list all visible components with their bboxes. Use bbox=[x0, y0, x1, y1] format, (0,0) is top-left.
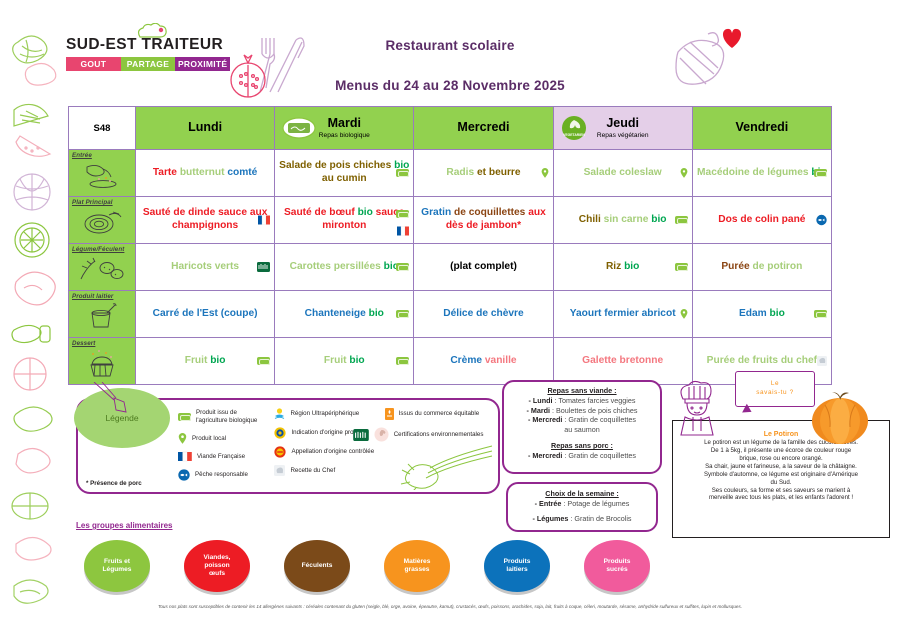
list-item: - Entrée : Potage de légumes bbox=[513, 499, 651, 509]
legend-item-aoc: Appellation d'origine contrôlée bbox=[274, 446, 378, 458]
bio-chip-icon bbox=[814, 305, 827, 323]
bio-chip-icon bbox=[257, 352, 270, 370]
menu-cell-laitier-mercredi: Délice de chèvre bbox=[414, 291, 553, 338]
allergen-footer: Tous nos plats sont susceptibles de cont… bbox=[60, 604, 840, 610]
dish-text: Salade coleslaw bbox=[554, 167, 692, 180]
legend-label: Certifications environnementales bbox=[394, 431, 484, 439]
row-header-legume-feculent: Légume/Féculent bbox=[69, 244, 136, 291]
brand-tag-partage: PARTAGE bbox=[121, 57, 176, 71]
dish-text: Haricots verts bbox=[136, 261, 274, 274]
page-title: Restaurant scolaire bbox=[0, 38, 900, 53]
dish-text: Galette bretonne bbox=[554, 355, 692, 368]
dish-text: Carré de l'Est (coupe) bbox=[136, 308, 274, 321]
menu-cell-legume-lundi: Haricots verts bbox=[136, 244, 275, 291]
legend-item-recette-chef: Recette du Chef bbox=[274, 465, 378, 476]
day-header-mercredi: Mercredi bbox=[414, 107, 553, 150]
bio-chip-icon bbox=[396, 205, 409, 223]
legend-leaf-icon bbox=[88, 382, 158, 416]
menu-cell-legume-jeudi: Riz bio bbox=[553, 244, 692, 291]
legend-item-certifications-environnementales: Certifications environnementales bbox=[353, 427, 492, 442]
potiron-info-panel: Le savais-tu ? Le Potiron Le potiron est… bbox=[672, 420, 890, 538]
row-label-entree: Entrée bbox=[72, 152, 92, 159]
list-item: - Légumes : Gratin de Brocolis bbox=[513, 514, 651, 524]
day-name-mercredi: Mercredi bbox=[414, 121, 552, 134]
potiron-line: Sa chair, jaune et farineuse, a la saveu… bbox=[678, 463, 884, 471]
legend-box: Légende Produit issu de l'agriculture bi… bbox=[76, 398, 500, 494]
potiron-line: Ses couleurs, sa forme et ses saveurs se… bbox=[678, 487, 884, 495]
commerce-equitable-icon bbox=[385, 408, 394, 420]
ab-bio-icon bbox=[282, 117, 316, 139]
dish-text: Boulettes de pois chiches bbox=[556, 406, 638, 415]
menu-cell-plat-jeudi: Chili sin carne bio bbox=[553, 197, 692, 244]
table-row: Entrée Tarte b bbox=[69, 150, 832, 197]
recette-chef-icon bbox=[817, 356, 827, 366]
menu-cell-entree-jeudi: Salade coleslaw bbox=[553, 150, 692, 197]
certifications-environnementales-icon bbox=[353, 429, 369, 441]
fork-vegetable-icon bbox=[384, 444, 494, 490]
dish-text: Délice de chèvre bbox=[414, 308, 552, 321]
dish-text: Carottes persillées bio bbox=[275, 261, 413, 274]
bubble-line-1: Le bbox=[771, 380, 779, 389]
legend-item-viande-francaise: Viande Française bbox=[178, 451, 268, 462]
food-group-label: Fruits etLégumes bbox=[103, 558, 132, 574]
food-groups-title: Les groupes alimentaires bbox=[76, 521, 172, 530]
row-header-plat-principal: Plat Principal bbox=[69, 197, 136, 244]
vegetarian-icon: VEGETARIEN bbox=[561, 115, 587, 141]
row-label-legume-feculent: Légume/Féculent bbox=[72, 246, 124, 253]
speech-bubble: Le savais-tu ? bbox=[735, 371, 815, 407]
day-label: - Mercredi bbox=[528, 415, 562, 424]
dish-text: Chili sin carne bio bbox=[554, 214, 692, 227]
food-group-produits-sucres: Produitssucrés bbox=[584, 540, 650, 592]
dish-text: Sauté de bœuf bio sauce mironton bbox=[275, 207, 413, 233]
table-row: Plat Principal Sauté de d bbox=[69, 197, 832, 244]
day-label: - Mercredi bbox=[528, 451, 562, 460]
menu-cell-legume-vendredi: Purée de potiron bbox=[692, 244, 831, 291]
legend-label: Recette du Chef bbox=[290, 467, 335, 475]
dish-text: Crème vanille bbox=[414, 355, 552, 368]
entree-icon bbox=[79, 161, 125, 189]
day-name-vendredi: Vendredi bbox=[693, 121, 831, 134]
repas-sans-porc-title: Repas sans porc : bbox=[509, 441, 655, 450]
repas-sans-viande-title: Repas sans viande : bbox=[509, 386, 655, 395]
row-label-plat-principal: Plat Principal bbox=[72, 199, 113, 206]
day-label: - Entrée bbox=[535, 499, 562, 508]
decorative-food-illustrations-left bbox=[0, 14, 66, 624]
dish-text: Tomates farcies veggies bbox=[558, 396, 635, 405]
potiron-line: du Sud. bbox=[678, 479, 884, 487]
food-group-label: Produitslaitiers bbox=[504, 558, 531, 574]
dish-text: Sauté de dinde sauce aux champignons bbox=[136, 207, 274, 233]
food-group-label: Viandes,poissonœufs bbox=[204, 554, 231, 579]
dish-text: Fruit bio bbox=[275, 355, 413, 368]
dessert-icon bbox=[79, 348, 125, 378]
menu-cell-plat-mercredi: Gratin de coquillettes aux dès de jambon… bbox=[414, 197, 553, 244]
legend-item-region-ultraperipherique: Région Ultrapériphérique bbox=[274, 408, 378, 420]
food-group-viandes-poisson-oeufs: Viandes,poissonœufs bbox=[184, 540, 250, 592]
dish-text: Purée de fruits du chef bbox=[693, 355, 831, 368]
menu-cell-entree-lundi: Tarte butternut comté bbox=[136, 150, 275, 197]
brand-tag-gout: GOUT bbox=[66, 57, 121, 71]
pumpkin-icon bbox=[809, 387, 871, 445]
dish-text: Gratin de Brocolis bbox=[574, 514, 631, 523]
local-pin-icon bbox=[680, 309, 688, 319]
dish-text: Macédoine de légumes bio bbox=[693, 167, 831, 180]
legend-label: Produit local bbox=[192, 435, 226, 443]
day-header-vendredi: Vendredi bbox=[692, 107, 831, 150]
certifications-environnementales-icon bbox=[257, 262, 270, 272]
legend-item-produit-local: Produit local bbox=[178, 433, 268, 444]
dish-text: Edam bio bbox=[693, 308, 831, 321]
menu-cell-entree-mardi: Salade de pois chiches bio au cumin bbox=[275, 150, 414, 197]
legend-item-bio: Produit issu de l'agriculture biologique bbox=[178, 408, 268, 426]
region-ultraperipherique-icon bbox=[274, 408, 285, 420]
legume-feculent-icon bbox=[77, 255, 127, 283]
menu-cell-legume-mardi: Carottes persillées bio bbox=[275, 244, 414, 291]
dish-text: Riz bio bbox=[554, 261, 692, 274]
row-header-entree: Entrée bbox=[69, 150, 136, 197]
menu-cell-dessert-mardi: Fruit bio bbox=[275, 338, 414, 385]
food-groups-row: Fruits etLégumes Viandes,poissonœufs Féc… bbox=[84, 540, 684, 596]
table-row: Produit laitier Carré de l'Est (coupe) bbox=[69, 291, 832, 338]
legend-item-peche-responsable: Pêche responsable bbox=[178, 469, 268, 481]
list-item: - Mercredi : Gratin de coquillettes bbox=[509, 415, 655, 425]
bio-chip-icon bbox=[396, 305, 409, 323]
day-header-lundi: Lundi bbox=[136, 107, 275, 150]
legend-label: Issus du commerce équitable bbox=[399, 410, 479, 418]
food-group-produits-laitiers: Produitslaitiers bbox=[484, 540, 550, 592]
brand-tags: GOUT PARTAGE PROXIMITÉ bbox=[66, 57, 230, 71]
potiron-line: Symbole d'automne, ce légume est origina… bbox=[678, 471, 884, 479]
row-label-produit-laitier: Produit laitier bbox=[72, 293, 113, 300]
legend-label: Pêche responsable bbox=[195, 471, 248, 479]
day-label: - Légumes bbox=[532, 514, 568, 523]
menu-cell-laitier-vendredi: Edam bio bbox=[692, 291, 831, 338]
menu-cell-entree-mercredi: Radis et beurre bbox=[414, 150, 553, 197]
viande-francaise-icon bbox=[258, 216, 270, 225]
menu-page: SUD-EST TRAITEUR GOUT PARTAGE PROXIMITÉ bbox=[0, 0, 900, 636]
bio-chip-icon bbox=[814, 164, 827, 182]
potiron-line: De 1 à 5kg, il présente une écorce de co… bbox=[678, 447, 884, 455]
certification-seal-icon bbox=[374, 427, 389, 442]
food-group-fruits-legumes: Fruits etLégumes bbox=[84, 540, 150, 592]
aoc-icon bbox=[274, 446, 286, 458]
menu-cell-legume-mercredi: (plat complet) bbox=[414, 244, 553, 291]
peche-responsable-icon bbox=[816, 215, 827, 226]
local-pin-icon bbox=[680, 168, 688, 178]
potiron-line: merveille avec tous les plats, et les en… bbox=[678, 494, 884, 502]
bio-chip-icon bbox=[396, 258, 409, 276]
viande-francaise-icon bbox=[178, 451, 192, 462]
dish-text: Gratin de coquillettes bbox=[568, 451, 636, 460]
bio-chip-icon bbox=[675, 258, 688, 276]
local-pin-icon bbox=[541, 168, 549, 178]
potiron-line: brique, rose ou encore orangé. bbox=[678, 455, 884, 463]
dish-text: (plat complet) bbox=[414, 261, 552, 274]
porc-note: * Présence de porc bbox=[86, 480, 142, 487]
list-item: - Mercredi : Gratin de coquillettes bbox=[509, 451, 655, 461]
menu-cell-dessert-lundi: Fruit bio bbox=[136, 338, 275, 385]
menu-cell-laitier-lundi: Carré de l'Est (coupe) bbox=[136, 291, 275, 338]
list-item: au saumon bbox=[509, 425, 655, 435]
menu-table: S48 Lundi Mardi Repas biologique bbox=[68, 106, 832, 385]
table-header-row: S48 Lundi Mardi Repas biologique bbox=[69, 107, 832, 150]
legend-column-1: Produit issu de l'agriculture biologique… bbox=[178, 408, 268, 481]
dish-text: Dos de colin pané bbox=[693, 214, 831, 227]
food-group-matieres-grasses: Matièresgrasses bbox=[384, 540, 450, 592]
table-row: Légume/Féculent Haricots verts bbox=[69, 244, 832, 291]
day-label: - Mardi bbox=[526, 406, 550, 415]
legend-label: Appellation d'origine contrôlée bbox=[291, 448, 374, 456]
list-item: - Mardi : Boulettes de pois chiches bbox=[509, 406, 655, 416]
week-number: S48 bbox=[69, 107, 136, 150]
bio-chip-icon bbox=[178, 408, 191, 426]
produit-laitier-icon bbox=[79, 302, 125, 330]
igp-icon bbox=[274, 427, 286, 439]
repas-sans-viande-box: Repas sans viande : - Lundi : Tomates fa… bbox=[502, 380, 662, 474]
food-group-label: Produitssucrés bbox=[604, 558, 631, 574]
menu-cell-plat-vendredi: Dos de colin pané bbox=[692, 197, 831, 244]
recette-chef-icon bbox=[274, 465, 285, 476]
dish-text: Salade de pois chiches bio au cumin bbox=[275, 160, 413, 186]
list-item: - Lundi : Tomates farcies veggies bbox=[509, 396, 655, 406]
menu-cell-plat-lundi: Sauté de dinde sauce aux champignons bbox=[136, 197, 275, 244]
day-label: - Lundi bbox=[529, 396, 553, 405]
day-header-mardi: Mardi Repas biologique bbox=[275, 107, 414, 150]
menu-table-container: S48 Lundi Mardi Repas biologique bbox=[68, 106, 832, 385]
food-group-label: Féculents bbox=[302, 562, 333, 570]
legend-label: Viande Française bbox=[197, 453, 245, 461]
bio-chip-icon bbox=[396, 164, 409, 182]
row-header-produit-laitier: Produit laitier bbox=[69, 291, 136, 338]
dish-text: Gratin de coquillettes bbox=[568, 415, 636, 424]
menu-cell-dessert-mercredi: Crème vanille bbox=[414, 338, 553, 385]
local-pin-icon bbox=[178, 433, 187, 444]
dish-text: Potage de légumes bbox=[567, 499, 629, 508]
dish-text: Gratin de coquillettes aux dès de jambon… bbox=[414, 207, 552, 233]
menu-cell-entree-vendredi: Macédoine de légumes bio bbox=[692, 150, 831, 197]
legend-label: Région Ultrapériphérique bbox=[290, 410, 359, 418]
bio-chip-icon bbox=[396, 352, 409, 370]
peche-responsable-icon bbox=[178, 469, 190, 481]
dish-text: Radis et beurre bbox=[414, 167, 552, 180]
viande-francaise-icon bbox=[397, 227, 409, 236]
bio-chip-icon bbox=[675, 211, 688, 229]
choix-title: Choix de la semaine : bbox=[513, 489, 651, 498]
dish-text: Tarte butternut comté bbox=[136, 167, 274, 180]
menu-cell-laitier-mardi: Chanteneige bio bbox=[275, 291, 414, 338]
bubble-line-2: savais-tu ? bbox=[756, 389, 794, 398]
food-group-label: Matièresgrasses bbox=[404, 558, 431, 574]
legend-item-commerce-equitable: Issus du commerce équitable bbox=[385, 408, 492, 420]
dish-text: Fruit bio bbox=[136, 355, 274, 368]
legend-column-2: Région Ultrapériphérique Indication d'or… bbox=[274, 408, 378, 481]
menu-cell-plat-mardi: Sauté de bœuf bio sauce mironton bbox=[275, 197, 414, 244]
chef-character-icon bbox=[667, 377, 737, 443]
dish-text: Purée de potiron bbox=[693, 261, 831, 274]
choix-de-la-semaine-box: Choix de la semaine : - Entrée : Potage … bbox=[506, 482, 658, 532]
day-name-lundi: Lundi bbox=[136, 121, 274, 134]
day-header-jeudi: VEGETARIEN Jeudi Repas végétarien bbox=[553, 107, 692, 150]
row-label-dessert: Dessert bbox=[72, 340, 95, 347]
row-header-dessert: Dessert bbox=[69, 338, 136, 385]
page-subtitle: Menus du 24 au 28 Novembre 2025 bbox=[0, 78, 900, 93]
dish-text: Yaourt fermier abricot bbox=[554, 308, 692, 321]
food-group-feculents: Féculents bbox=[284, 540, 350, 592]
dish-text: Chanteneige bio bbox=[275, 308, 413, 321]
menu-cell-laitier-jeudi: Yaourt fermier abricot bbox=[553, 291, 692, 338]
plat-principal-icon bbox=[79, 208, 125, 236]
svg-text:VEGETARIEN: VEGETARIEN bbox=[563, 133, 585, 137]
legend-label: Produit issu de l'agriculture biologique bbox=[196, 409, 268, 425]
